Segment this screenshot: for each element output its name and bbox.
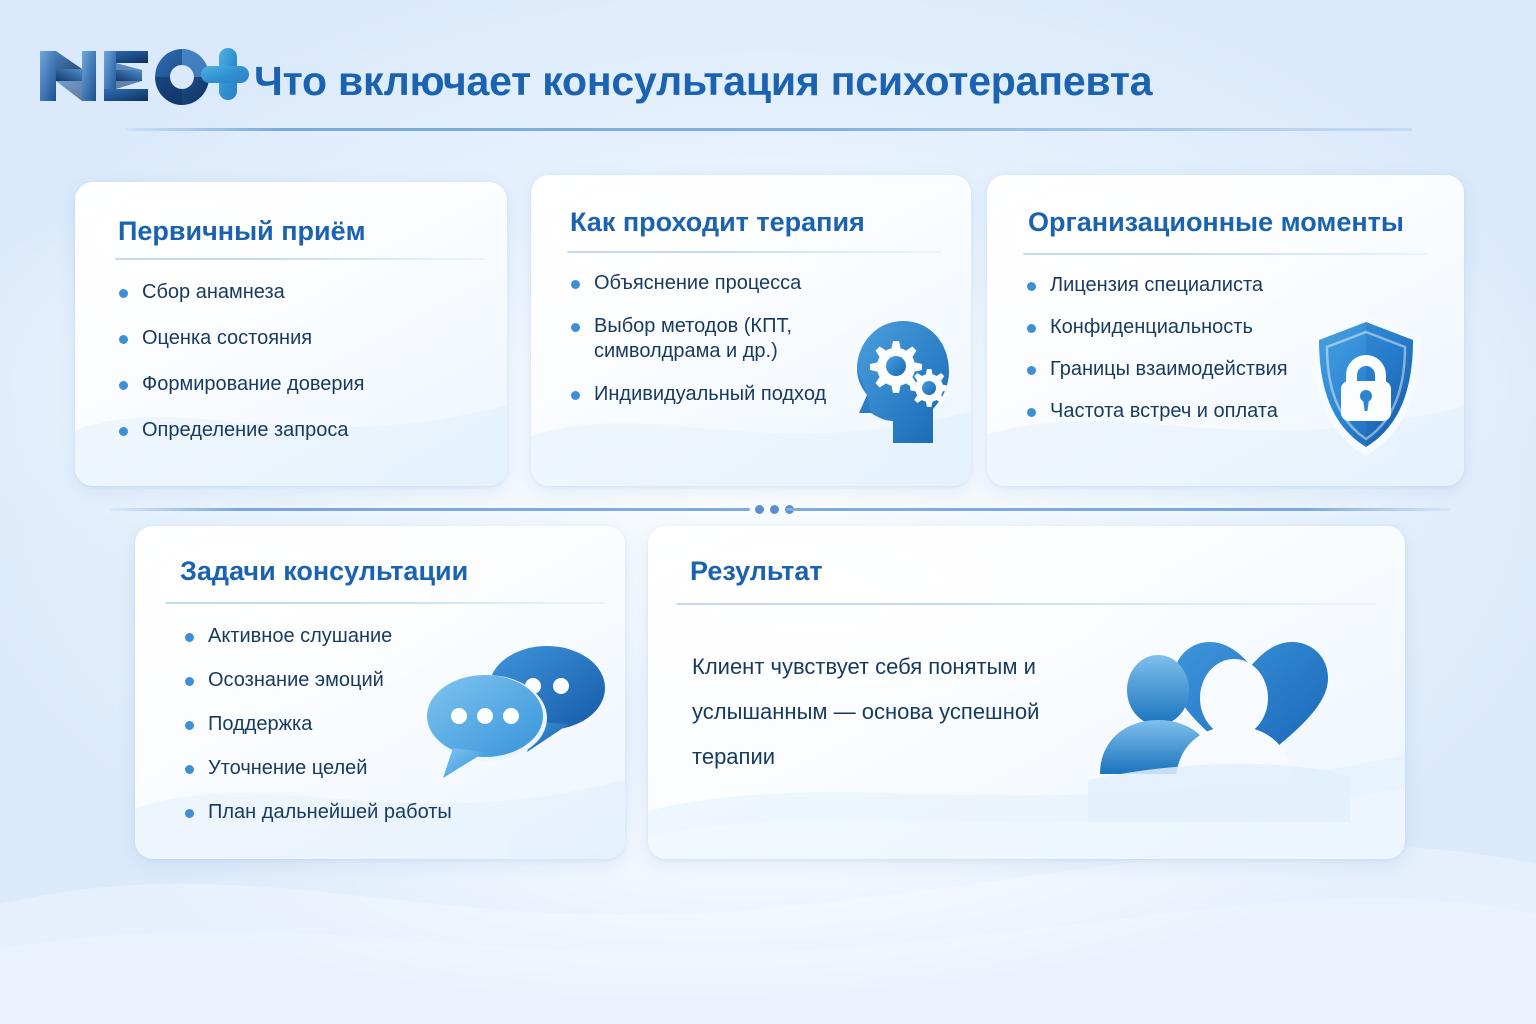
brand-logo xyxy=(38,45,250,107)
list-item: Осознание эмоций xyxy=(181,668,511,693)
card-title-divider xyxy=(1023,253,1428,255)
divider-dot xyxy=(770,505,779,514)
card-title: Как проходит терапия xyxy=(570,207,865,238)
list-item: Активное слушание xyxy=(181,624,511,649)
header: Что включает консультация психотерапевта xyxy=(0,0,1536,140)
section-divider xyxy=(0,496,1536,524)
bullet-list: Объяснение процесса Выбор методов (КПТ, … xyxy=(567,271,867,425)
list-item: Индивидуальный подход xyxy=(567,382,867,407)
list-item: Частота встреч и оплата xyxy=(1023,399,1353,424)
list-item: Выбор методов (КПТ, символдрама и др.) xyxy=(567,314,867,364)
card-organizational: Организационные моменты Лицензия специал… xyxy=(987,175,1464,486)
bullet-list: Лицензия специалиста Конфиденциальность … xyxy=(1023,273,1353,441)
header-divider xyxy=(125,128,1412,131)
card-title: Организационные моменты xyxy=(1028,207,1404,238)
list-item: Уточнение целей xyxy=(181,756,511,781)
card-title-divider xyxy=(676,603,1376,605)
list-item: Формирование доверия xyxy=(115,372,445,397)
list-item: Поддержка xyxy=(181,712,511,737)
list-item: План дальнейшей работы xyxy=(181,800,511,825)
card-title: Первичный приём xyxy=(118,216,366,247)
list-item: Объяснение процесса xyxy=(567,271,867,296)
list-item: Определение запроса xyxy=(115,418,445,443)
list-item: Оценка состояния xyxy=(115,326,445,351)
list-item: Границы взаимодействия xyxy=(1023,357,1353,382)
infographic-canvas: Что включает консультация психотерапевта… xyxy=(0,0,1536,1024)
card-consultation-tasks: Задачи консультации Активное с xyxy=(135,526,625,859)
bullet-list: Сбор анамнеза Оценка состояния Формирова… xyxy=(115,280,445,464)
card-title-divider xyxy=(567,251,942,253)
list-item: Конфиденциальность xyxy=(1023,315,1353,340)
card-title-divider xyxy=(165,602,605,604)
card-primary-appointment: Первичный приём xyxy=(75,182,507,486)
divider-line-left xyxy=(110,508,750,511)
list-item: Лицензия специалиста xyxy=(1023,273,1353,298)
bullet-list: Активное слушание Осознание эмоций Подде… xyxy=(181,624,511,844)
page-title: Что включает консультация психотерапевта xyxy=(254,58,1152,105)
divider-line-right xyxy=(786,508,1450,511)
divider-dot xyxy=(755,505,764,514)
result-body-text: Клиент чувствует себя понятым и услышанн… xyxy=(692,644,1102,779)
heart-people-icon xyxy=(1088,622,1350,822)
list-item: Сбор анамнеза xyxy=(115,280,445,305)
card-therapy-process: Как проходит терапия Объяснение процесса… xyxy=(531,175,971,486)
card-result: Результат Клиент чувствует себя понятым … xyxy=(648,526,1405,859)
card-title: Результат xyxy=(690,556,823,587)
card-title: Задачи консультации xyxy=(180,556,468,587)
card-title-divider xyxy=(115,258,485,260)
